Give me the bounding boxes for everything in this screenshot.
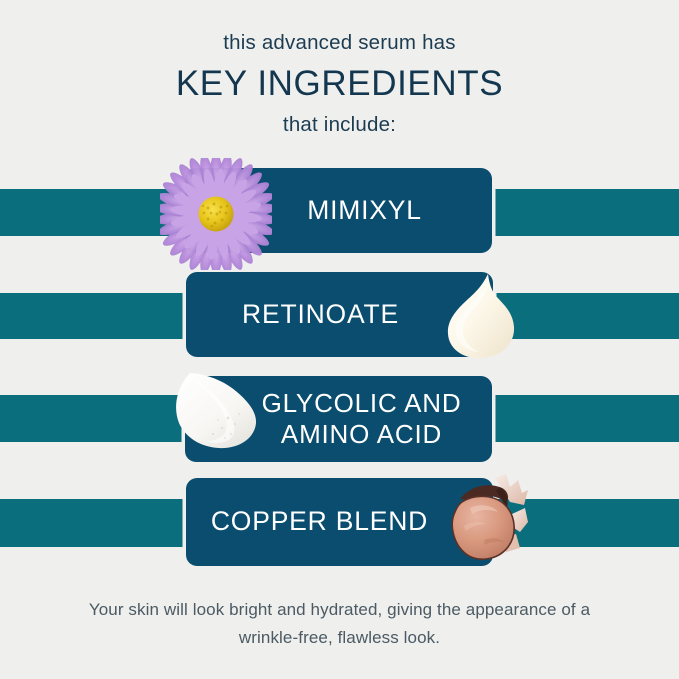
ingredient-label: RETINOATE [186,299,493,330]
infographic-canvas: this advanced serum has KEY INGREDIENTS … [0,0,679,679]
ingredient-card-mimixyl: MIMIXYL [185,168,492,253]
heading-subline: that include: [0,112,679,138]
ingredient-label: MIMIXYL [185,195,492,226]
page-title: KEY INGREDIENTS [0,61,679,107]
ingredient-card-retinoate: RETINOATE [186,272,493,357]
ingredient-card-glycolic-amino-acid: GLYCOLIC AND AMINO ACID [185,376,492,462]
ingredient-label: GLYCOLIC AND AMINO ACID [185,388,492,449]
ingredient-card-copper-blend: COPPER BLEND [186,478,493,566]
ingredient-label: COPPER BLEND [186,506,493,537]
heading-block: this advanced serum has KEY INGREDIENTS … [0,30,679,138]
footer-description: Your skin will look bright and hydrated,… [0,596,679,651]
heading-eyebrow: this advanced serum has [0,30,679,56]
